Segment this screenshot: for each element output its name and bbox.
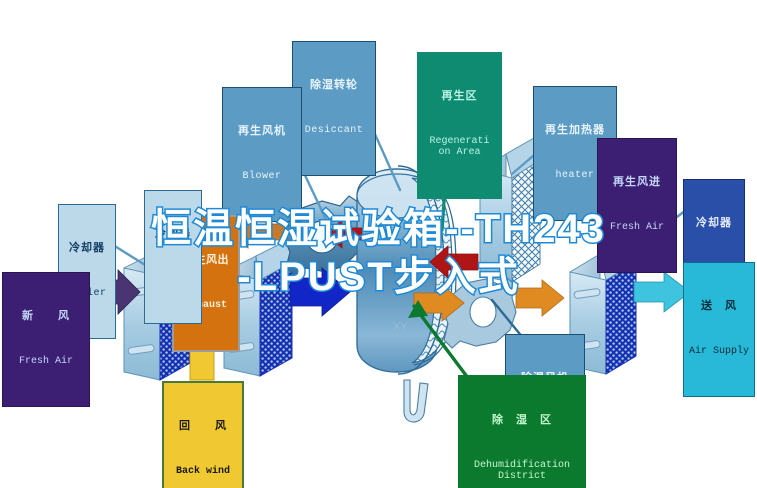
label-air-supply: 送 风 Air Supply [683, 262, 755, 397]
air-supply-arrow [634, 272, 690, 312]
svg-text:XY: XY [393, 321, 408, 333]
label-back-wind-cn: 回 风 [164, 421, 242, 433]
label-regeneration-area-cn: 再生区 [418, 91, 501, 103]
label-cooler-right-cn: 冷却器 [684, 218, 744, 230]
label-regeneration-blower-en: Blower [223, 172, 301, 183]
label-desiccant-wheel-en: Desiccant [293, 126, 375, 137]
drip-tray [404, 380, 428, 422]
label-fresh-air-inlet-en: Fresh Air [3, 357, 89, 368]
label-desiccant-wheel: 除湿转轮 Desiccant [292, 41, 376, 176]
label-regeneration-blower-cn: 再生风机 [223, 126, 301, 138]
label-dehumidification-district-cn: 除 湿 区 [459, 415, 585, 427]
label-cooler-left-2-cn: 冷却器 [145, 229, 201, 241]
label-regeneration-air-inlet: 再生风进 Fresh Air [597, 138, 677, 273]
label-regeneration-blower: 再生风机 Blower [222, 87, 302, 222]
label-regeneration-air-inlet-cn: 再生风进 [598, 177, 676, 189]
label-fresh-air-inlet-cn: 新 风 [3, 311, 89, 323]
label-regeneration-heater-cn: 再生加热器 [534, 125, 616, 137]
label-regeneration-air-inlet-en: Fresh Air [598, 223, 676, 234]
label-air-supply-en: Air Supply [684, 347, 754, 358]
label-regeneration-area: 再生区 Regenerati on Area [417, 52, 502, 199]
label-regeneration-area-en: Regenerati on Area [418, 137, 501, 159]
cooler2-out-arrow [290, 268, 350, 316]
label-air-supply-cn: 送 风 [684, 301, 754, 313]
label-desiccant-wheel-cn: 除湿转轮 [293, 80, 375, 92]
label-back-wind: 回 风 Back wind [162, 381, 244, 488]
label-dehumidification-district-en: Dehumidification District [459, 461, 585, 483]
label-fresh-air-inlet: 新 风 Fresh Air [2, 272, 90, 407]
label-cooler-left-2: 冷却器 [144, 190, 202, 324]
label-dehumidification-district: 除 湿 区 Dehumidification District [458, 375, 586, 488]
process-out-arrow-2 [516, 280, 564, 316]
label-back-wind-en: Back wind [164, 467, 242, 478]
label-cooler-left-1-cn: 冷却器 [59, 243, 115, 255]
diagram-canvas: XY [0, 0, 757, 488]
